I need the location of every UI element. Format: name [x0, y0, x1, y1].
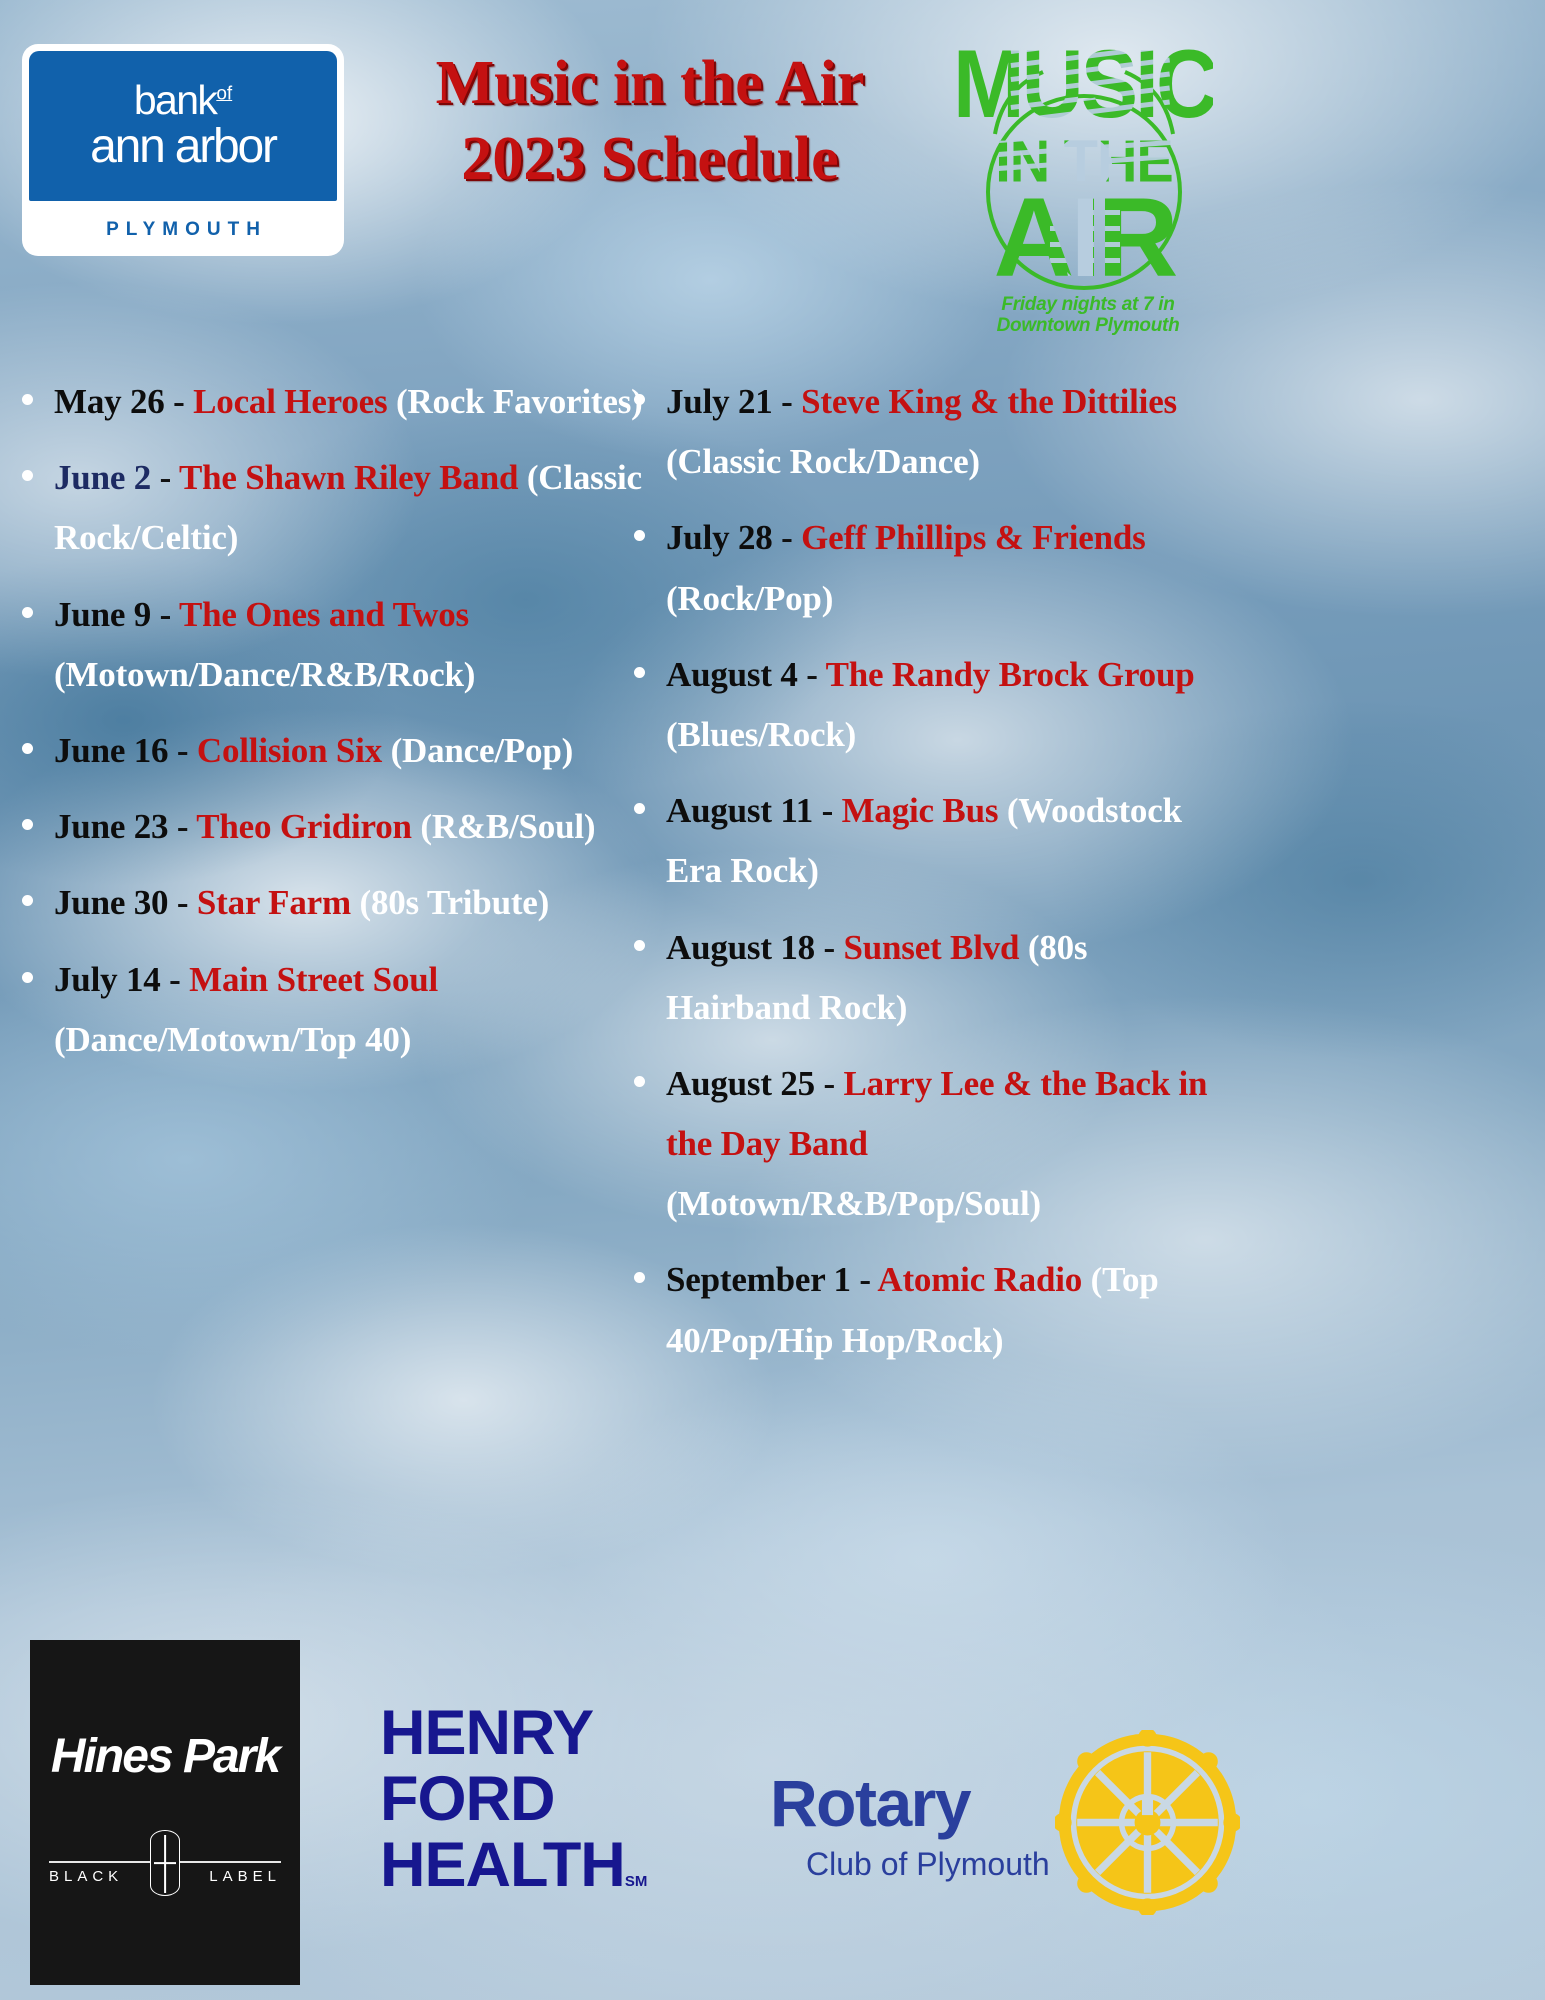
- hfh-service-mark: SM: [625, 1873, 648, 1890]
- event-band-name: Sunset Blvd: [844, 928, 1020, 967]
- bullet-icon: [634, 940, 645, 951]
- black-label-right: LABEL: [209, 1868, 281, 1885]
- bank-of-ann-arbor-logo: bankof ann arbor PLYMOUTH: [22, 44, 344, 256]
- boaa-word-of: of: [216, 83, 232, 104]
- event-dash: -: [851, 1260, 878, 1299]
- event-date: August 11: [666, 791, 813, 830]
- event-band-name: Star Farm: [197, 883, 351, 922]
- bullet-icon: [22, 972, 33, 983]
- bullet-icon: [634, 1076, 645, 1087]
- bullet-icon: [634, 394, 645, 405]
- event-date: June 23: [54, 807, 168, 846]
- bullet-icon: [634, 1272, 645, 1283]
- event-dash: -: [165, 382, 194, 421]
- event-dash: -: [798, 655, 826, 694]
- event-band-name: Theo Gridiron: [196, 807, 412, 846]
- event-band-name: The Ones and Twos: [179, 595, 469, 634]
- lincoln-star-icon: [150, 1830, 180, 1896]
- event-genre: (Rock/Pop): [666, 579, 833, 618]
- event-dash: -: [815, 1064, 844, 1103]
- boaa-logo-plate: bankof ann arbor: [29, 51, 337, 201]
- bullet-icon: [634, 667, 645, 678]
- event-dash: -: [168, 883, 197, 922]
- black-label-left: BLACK: [49, 1868, 123, 1885]
- event-dash: -: [813, 791, 842, 830]
- schedule-item: June 16 - Collision Six (Dance/Pop): [8, 721, 648, 781]
- event-band-name: Local Heroes: [193, 382, 387, 421]
- bullet-icon: [22, 394, 33, 405]
- event-date: June 2: [54, 458, 151, 497]
- event-genre: (Motown/Dance/R&B/Rock): [54, 655, 475, 694]
- event-genre: (Dance/Motown/Top 40): [54, 1020, 411, 1059]
- event-date: August 25: [666, 1064, 815, 1103]
- poster-header: bankof ann arbor PLYMOUTH Music in the A…: [0, 0, 1545, 355]
- event-dash: -: [168, 731, 197, 770]
- event-band-name: Main Street Soul: [189, 960, 438, 999]
- mita-tagline: Friday nights at 7 in Downtown Plymouth: [963, 295, 1213, 336]
- event-date: July 21: [666, 382, 773, 421]
- event-date: May 26: [54, 382, 165, 421]
- hfh-line-3: HEALTHSM: [380, 1832, 710, 1898]
- boaa-logo-line1: bankof: [134, 80, 232, 121]
- event-genre: (Rock Favorites): [396, 382, 643, 421]
- event-date: June 16: [54, 731, 168, 770]
- event-dash: -: [151, 595, 179, 634]
- event-genre: (80s Tribute): [360, 883, 550, 922]
- schedule-item: August 25 - Larry Lee & the Back in the …: [620, 1054, 1240, 1235]
- schedule-item: June 9 - The Ones and Twos (Motown/Dance…: [8, 585, 648, 705]
- schedule-item: August 11 - Magic Bus (Woodstock Era Roc…: [620, 781, 1240, 901]
- mita-logo-art: MUSIC IN THE AIR: [955, 14, 1213, 294]
- bullet-icon: [22, 743, 33, 754]
- mita-tagline-line2: Downtown Plymouth: [963, 316, 1213, 337]
- title-line-1: Music in the Air: [350, 46, 950, 122]
- event-genre: (Blues/Rock): [666, 715, 856, 754]
- schedule-column-right: July 21 - Steve King & the Dittilies (Cl…: [620, 372, 1240, 1387]
- hfh-line-1: HENRY: [380, 1700, 710, 1766]
- schedule-item: June 30 - Star Farm (80s Tribute): [8, 873, 648, 933]
- henry-ford-health-logo: HENRY FORD HEALTHSM: [380, 1700, 710, 1898]
- hines-park-wordmark: Hines Park: [51, 1729, 279, 1784]
- bullet-icon: [22, 607, 33, 618]
- music-in-the-air-logo: MUSIC IN THE AIR: [955, 14, 1225, 344]
- schedule-item: July 21 - Steve King & the Dittilies (Cl…: [620, 372, 1240, 492]
- event-date: June 9: [54, 595, 151, 634]
- event-date: September 1: [666, 1260, 851, 1299]
- schedule-item: August 18 - Sunset Blvd (80s Hairband Ro…: [620, 918, 1240, 1038]
- event-date: August 18: [666, 928, 815, 967]
- event-date: July 14: [54, 960, 161, 999]
- event-dash: -: [151, 458, 179, 497]
- schedule-item: August 4 - The Randy Brock Group (Blues/…: [620, 645, 1240, 765]
- event-genre: (R&B/Soul): [420, 807, 595, 846]
- schedule-item: May 26 - Local Heroes (Rock Favorites): [8, 372, 648, 432]
- event-dash: -: [815, 928, 844, 967]
- event-genre: (Dance/Pop): [391, 731, 574, 770]
- event-dash: -: [773, 518, 802, 557]
- rotary-wheel-icon: [1055, 1730, 1240, 1915]
- page-title: Music in the Air 2023 Schedule: [350, 46, 950, 197]
- bullet-icon: [22, 470, 33, 481]
- boaa-branch-city: PLYMOUTH: [29, 219, 337, 241]
- event-date: July 28: [666, 518, 773, 557]
- event-genre: (Classic Rock/Dance): [666, 442, 980, 481]
- mita-tagline-line1: Friday nights at 7 in: [963, 295, 1213, 316]
- bullet-icon: [22, 819, 33, 830]
- schedule-item: September 1 - Atomic Radio (Top 40/Pop/H…: [620, 1250, 1240, 1370]
- lincoln-black-label-badge: BLACK LABEL: [49, 1830, 281, 1896]
- schedule-column-left: May 26 - Local Heroes (Rock Favorites)Ju…: [8, 372, 648, 1086]
- event-band-name: Magic Bus: [842, 791, 999, 830]
- event-band-name: Geff Phillips & Friends: [801, 518, 1145, 557]
- event-genre: (Motown/R&B/Pop/Soul): [666, 1184, 1041, 1223]
- bullet-icon: [634, 803, 645, 814]
- bullet-icon: [22, 895, 33, 906]
- event-band-name: Steve King & the Dittilies: [801, 382, 1177, 421]
- bullet-icon: [634, 530, 645, 541]
- event-band-name: Collision Six: [197, 731, 382, 770]
- event-band-name: The Randy Brock Group: [826, 655, 1195, 694]
- boaa-word-bank: bank: [134, 77, 217, 123]
- schedule-item: July 14 - Main Street Soul (Dance/Motown…: [8, 950, 648, 1070]
- title-line-2: 2023 Schedule: [350, 122, 950, 198]
- event-dash: -: [161, 960, 190, 999]
- hfh-word-health: HEALTH: [380, 1830, 625, 1900]
- schedule-item: June 2 - The Shawn Riley Band (Classic R…: [8, 448, 648, 568]
- poster-canvas: bankof ann arbor PLYMOUTH Music in the A…: [0, 0, 1545, 2000]
- event-band-name: The Shawn Riley Band: [179, 458, 518, 497]
- event-dash: -: [168, 807, 196, 846]
- event-dash: -: [773, 382, 802, 421]
- hines-park-lincoln-logo: Hines Park BLACK LABEL: [30, 1640, 300, 1985]
- rotary-club-logo: Rotary Club of Plymouth: [770, 1770, 1290, 1970]
- event-date: June 30: [54, 883, 168, 922]
- schedule-item: July 28 - Geff Phillips & Friends (Rock/…: [620, 508, 1240, 628]
- boaa-logo-line2: ann arbor: [90, 123, 276, 172]
- hfh-line-2: FORD: [380, 1766, 710, 1832]
- event-date: August 4: [666, 655, 798, 694]
- schedule-item: June 23 - Theo Gridiron (R&B/Soul): [8, 797, 648, 857]
- event-band-name: Atomic Radio: [877, 1260, 1082, 1299]
